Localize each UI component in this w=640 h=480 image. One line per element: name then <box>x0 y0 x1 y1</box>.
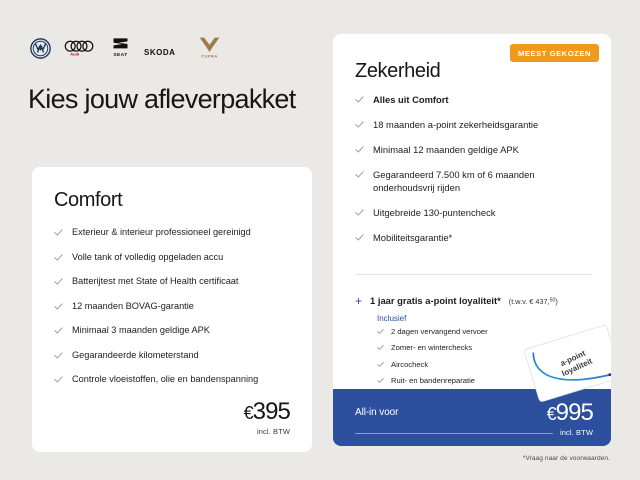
list-item: 12 maanden BOVAG-garantie <box>54 300 292 313</box>
volkswagen-logo <box>30 38 51 59</box>
feature-label: Minimaal 12 maanden geldige APK <box>373 143 519 156</box>
comfort-card-title: Comfort <box>54 189 122 212</box>
currency-symbol: € <box>244 403 253 423</box>
list-item: 18 maanden a-point zekerheidsgarantie <box>355 118 595 131</box>
plus-icon: + <box>355 295 362 307</box>
loyalty-value: (t.w.v. € 437,50) <box>509 297 558 306</box>
check-icon <box>355 208 364 217</box>
zekerheid-card-title: Zekerheid <box>355 60 440 83</box>
list-item: Alles uit Comfort <box>355 93 595 106</box>
feature-label: Ruit- en bandenreparatie <box>391 376 475 387</box>
price-value: 995 <box>556 399 593 426</box>
check-icon <box>377 361 384 368</box>
audi-logo: Audi <box>64 37 97 59</box>
list-item: Uitgebreide 130-puntencheck <box>355 206 595 219</box>
inclusief-label: Inclusief <box>377 314 595 323</box>
comfort-price-block: €395 incl. BTW <box>244 400 290 436</box>
brand-logo-bar: Audi SEAT SKODA CUPRA <box>30 33 222 59</box>
zekerheid-package-card[interactable]: MEEST GEKOZEN Zekerheid Alles uit Comfor… <box>333 34 611 446</box>
feature-label: Volle tank of volledig opgeladen accu <box>72 251 223 264</box>
check-icon <box>355 95 364 104</box>
feature-label: Exterieur & interieur professioneel gere… <box>72 226 251 239</box>
list-item: Exterieur & interieur professioneel gere… <box>54 226 292 239</box>
zekerheid-price: €995 <box>547 401 593 425</box>
check-icon <box>54 277 63 286</box>
svg-text:SEAT: SEAT <box>113 52 127 58</box>
comfort-package-card[interactable]: Comfort Exterieur & interieur profession… <box>32 167 312 452</box>
check-icon <box>377 344 384 351</box>
currency-symbol: € <box>547 404 556 424</box>
list-item: Volle tank of volledig opgeladen accu <box>54 251 292 264</box>
list-item: Batterijtest met State of Health certifi… <box>54 275 292 288</box>
feature-label: 2 dagen vervangend vervoer <box>391 327 488 338</box>
check-icon <box>54 302 63 311</box>
check-icon <box>54 253 63 262</box>
zekerheid-price-footer: All-in voor €995 incl. BTW <box>333 389 611 446</box>
seat-logo: SEAT <box>110 36 131 59</box>
feature-label: Mobiliteitsgarantie* <box>373 231 452 244</box>
footer-divider <box>355 433 553 434</box>
svg-text:CUPRA: CUPRA <box>201 54 217 59</box>
check-icon <box>377 328 384 335</box>
feature-label: Gegarandeerde kilometerstand <box>72 349 199 362</box>
list-item: Minimaal 12 maanden geldige APK <box>355 143 595 156</box>
check-icon <box>355 170 364 179</box>
loyalty-value-suffix: ) <box>555 297 557 306</box>
svg-text:SKODA: SKODA <box>144 48 175 57</box>
list-item: Gegarandeerde kilometerstand <box>54 349 292 362</box>
comfort-feature-list: Exterieur & interieur professioneel gere… <box>54 226 292 386</box>
price-value: 395 <box>253 398 290 425</box>
loyalty-heading-row: + 1 jaar gratis a-point loyaliteit* (t.w… <box>355 294 595 306</box>
allin-label: All-in voor <box>355 407 398 418</box>
comfort-price: €395 <box>244 400 290 424</box>
cupra-logo: CUPRA <box>197 34 222 59</box>
skoda-logo: SKODA <box>144 46 184 59</box>
loyalty-title: 1 jaar gratis a-point loyaliteit* <box>370 295 501 306</box>
check-icon <box>54 375 63 384</box>
feature-label: Alles uit Comfort <box>373 93 449 106</box>
check-icon <box>355 145 364 154</box>
svg-text:Audi: Audi <box>70 52 79 57</box>
feature-label: Minimaal 3 maanden geldige APK <box>72 324 210 337</box>
feature-label: Aircocheck <box>391 360 428 371</box>
check-icon <box>54 326 63 335</box>
list-item: Minimaal 3 maanden geldige APK <box>54 324 292 337</box>
check-icon <box>54 228 63 237</box>
loyalty-value-prefix: (t.w.v. € 437, <box>509 297 550 306</box>
footnote: *Vraag naar de voorwaarden. <box>523 455 610 462</box>
zekerheid-price-block: €995 incl. BTW <box>547 401 593 437</box>
feature-label: Zomer- en winterchecks <box>391 343 472 354</box>
feature-label: Controle vloeistoffen, olie en bandenspa… <box>72 373 258 386</box>
feature-label: 12 maanden BOVAG-garantie <box>72 300 194 313</box>
zekerheid-feature-list: Alles uit Comfort 18 maanden a-point zek… <box>355 93 595 244</box>
feature-label: Uitgebreide 130-puntencheck <box>373 206 495 219</box>
feature-label: 18 maanden a-point zekerheidsgarantie <box>373 118 538 131</box>
check-icon <box>54 351 63 360</box>
status-badge: MEEST GEKOZEN <box>510 44 599 62</box>
section-divider <box>355 274 591 275</box>
comfort-price-note: incl. BTW <box>244 427 290 436</box>
feature-label: Gegarandeerd 7.500 km of 6 maanden onder… <box>373 168 595 195</box>
list-item: Controle vloeistoffen, olie en bandenspa… <box>54 373 292 386</box>
check-icon <box>355 233 364 242</box>
left-column: Audi SEAT SKODA CUPRA Kies jouw afleverp… <box>0 0 320 480</box>
zekerheid-price-note: incl. BTW <box>547 428 593 437</box>
list-item: Mobiliteitsgarantie* <box>355 231 595 244</box>
check-icon <box>377 377 384 384</box>
check-icon <box>355 120 364 129</box>
feature-label: Batterijtest met State of Health certifi… <box>72 275 238 288</box>
list-item: Gegarandeerd 7.500 km of 6 maanden onder… <box>355 168 595 195</box>
page-title: Kies jouw afleverpakket <box>28 83 308 116</box>
